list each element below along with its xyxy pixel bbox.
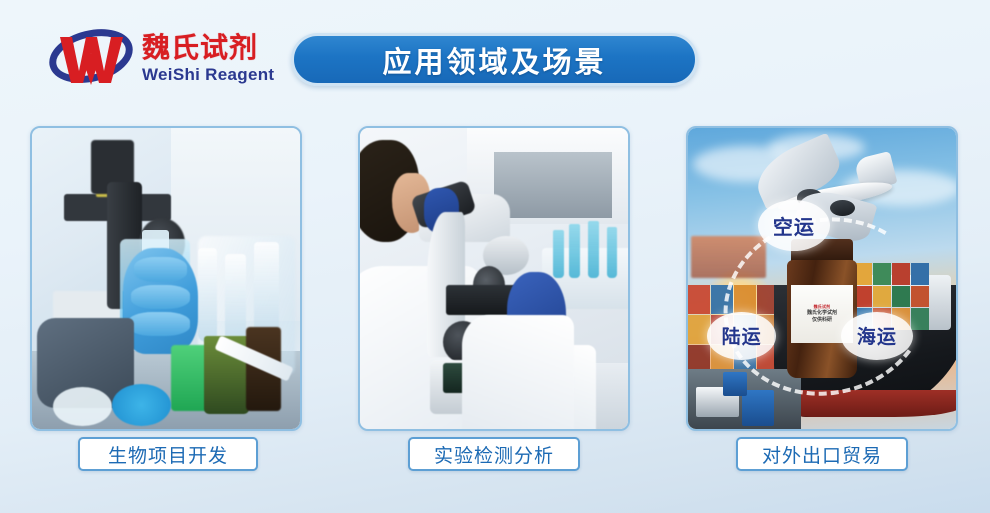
caption-foreign-export-trade: 对外出口贸易 — [736, 437, 908, 471]
bottle-label-line2: 仅供科研 — [812, 317, 832, 323]
badge-air-freight: 空运 — [758, 200, 830, 251]
bottle-label-line1: 魏氏化学试剂 — [807, 310, 837, 316]
brand-name-en: WeiShi Reagent — [142, 66, 274, 83]
page-title-text: 应用领域及场景 — [382, 39, 606, 81]
badge-sea-freight: 海运 — [841, 312, 913, 360]
application-cards: 魏氏试剂 魏氏化学试剂 仅供科研 空运 陆运 海运 — [0, 126, 990, 436]
photo-foreign-export-trade: 魏氏试剂 魏氏化学试剂 仅供科研 空运 陆运 海运 — [688, 128, 956, 429]
caption-label-3: 对外出口贸易 — [762, 441, 882, 468]
badge-land-label: 陆运 — [722, 322, 762, 349]
photo-bio-project-development — [32, 128, 300, 429]
caption-bio-project-development: 生物项目开发 — [78, 437, 258, 471]
brand-name-cn: 魏氏试剂 — [142, 34, 274, 62]
reagent-bottle: 魏氏试剂 魏氏化学试剂 仅供科研 — [787, 239, 857, 377]
caption-experimental-testing-analysis: 实验检测分析 — [408, 437, 580, 471]
bottle-label-brand: 魏氏试剂 — [814, 305, 831, 309]
brand-logo: 魏氏试剂 WeiShi Reagent — [48, 22, 278, 94]
brand-wordmark: 魏氏试剂 WeiShi Reagent — [142, 34, 274, 83]
card-experimental-testing-analysis[interactable] — [358, 126, 630, 431]
card-bio-project-development[interactable] — [30, 126, 302, 431]
badge-land-freight: 陆运 — [707, 312, 777, 360]
page-title: 应用领域及场景 — [291, 33, 698, 86]
weishi-w-swoosh-logo-icon — [48, 27, 134, 89]
badge-sea-label: 海运 — [857, 322, 897, 349]
slide-canvas: 魏氏试剂 WeiShi Reagent 应用领域及场景 — [0, 0, 990, 513]
caption-label-2: 实验检测分析 — [434, 441, 554, 468]
slide-header: 魏氏试剂 WeiShi Reagent 应用领域及场景 — [0, 0, 990, 118]
caption-label-1: 生物项目开发 — [108, 441, 228, 468]
card-foreign-export-trade[interactable]: 魏氏试剂 魏氏化学试剂 仅供科研 空运 陆运 海运 — [686, 126, 958, 431]
badge-air-label: 空运 — [773, 211, 815, 240]
photo-experimental-testing-analysis — [360, 128, 628, 429]
